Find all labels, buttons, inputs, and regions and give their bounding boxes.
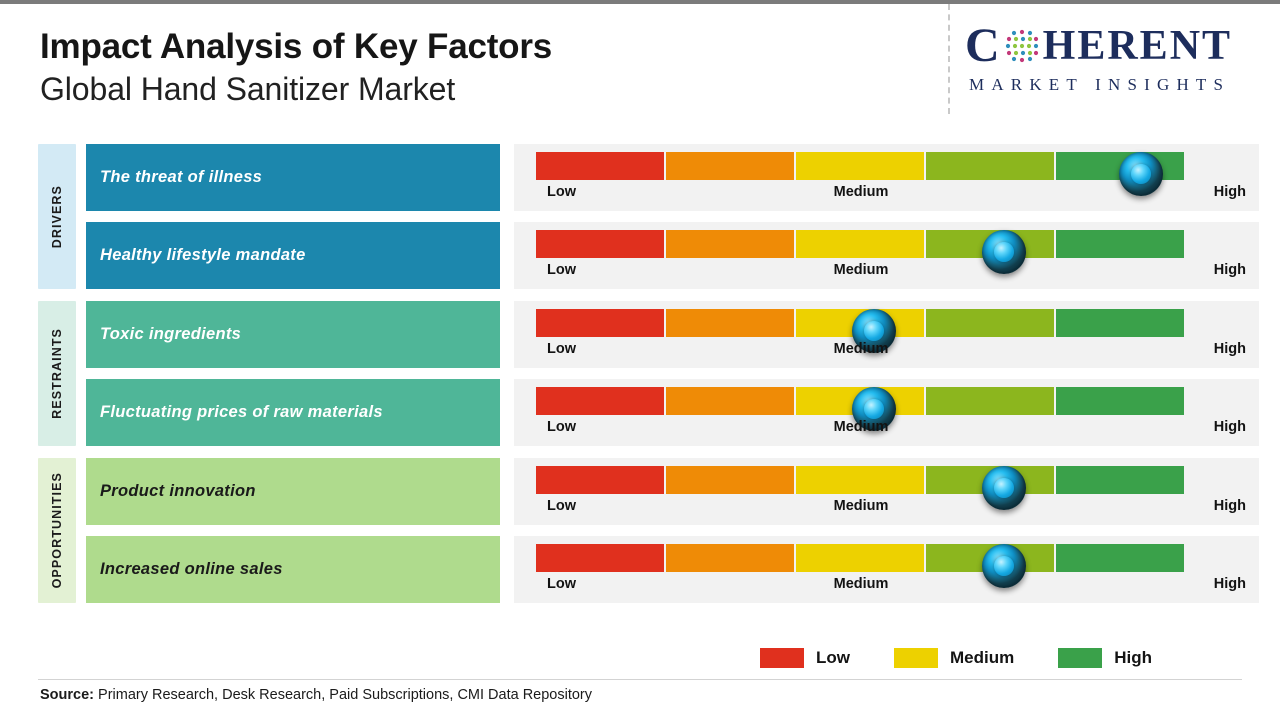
category-group-opportunities: OPPORTUNITIES Product innovation — [0, 458, 1280, 603]
factor-label: The threat of illness — [86, 144, 500, 211]
dotted-globe-icon — [1002, 26, 1042, 66]
gauge-segment-3 — [796, 466, 924, 494]
legend-item-high: High — [1058, 648, 1152, 668]
gauge-scale-labels: Low Medium High — [536, 184, 1216, 208]
header-divider — [948, 4, 950, 114]
table-row: Fluctuating prices of raw materials Low — [76, 379, 1280, 446]
factor-label: Product innovation — [86, 458, 500, 525]
table-row: Healthy lifestyle mandate Low Me — [76, 222, 1280, 289]
impact-gauge: Low Medium High — [514, 379, 1259, 446]
page-title: Impact Analysis of Key Factors — [40, 28, 552, 65]
impact-gauge: Low Medium High — [514, 301, 1259, 368]
factor-label: Increased online sales — [86, 536, 500, 603]
gauge-label-high: High — [1186, 262, 1246, 278]
gauge-segment-5 — [1056, 230, 1184, 258]
gauge-segment-2 — [666, 387, 794, 415]
brand-logo: C — [965, 22, 1265, 95]
gauge-segment-2 — [666, 466, 794, 494]
impact-gauge: Low Medium High — [514, 222, 1259, 289]
legend-label-high: High — [1114, 648, 1152, 668]
legend: Low Medium High — [760, 645, 1200, 671]
brand-wordmark: C — [965, 22, 1265, 70]
gauge-segment-4 — [926, 309, 1054, 337]
legend-item-medium: Medium — [894, 648, 1014, 668]
gauge-label-high: High — [1186, 498, 1246, 514]
brand-name-rest: HERENT — [1043, 25, 1232, 67]
category-label-opportunities: OPPORTUNITIES — [38, 458, 76, 603]
top-border — [0, 0, 1280, 4]
gauge-segment-4 — [926, 387, 1054, 415]
gauge-label-high: High — [1186, 576, 1246, 592]
gauge-label-medium: Medium — [536, 341, 1186, 357]
gauge-segment-5 — [1056, 466, 1184, 494]
brand-letter-c: C — [965, 22, 1002, 70]
gauge-segment-5 — [1056, 544, 1184, 572]
factor-label: Fluctuating prices of raw materials — [86, 379, 500, 446]
gauge-segment-3 — [796, 544, 924, 572]
gauge-label-high: High — [1186, 341, 1246, 357]
category-label-restraints: RESTRAINTS — [38, 301, 76, 446]
gauge-label-high: High — [1186, 419, 1246, 435]
table-row: Increased online sales Low Mediu — [76, 536, 1280, 603]
gauge-bar — [536, 544, 1186, 572]
gauge-label-medium: Medium — [536, 184, 1186, 200]
gauge-segment-2 — [666, 152, 794, 180]
category-label-drivers: DRIVERS — [38, 144, 76, 289]
gauge-segment-1 — [536, 152, 664, 180]
table-row: Product innovation Low Medium — [76, 458, 1280, 525]
gauge-label-high: High — [1186, 184, 1246, 200]
gauge-label-medium: Medium — [536, 419, 1186, 435]
impact-gauge: Low Medium High — [514, 144, 1259, 211]
gauge-segment-1 — [536, 387, 664, 415]
gauge-scale-labels: Low Medium High — [536, 498, 1216, 522]
gauge-segment-1 — [536, 230, 664, 258]
legend-label-low: Low — [816, 648, 850, 668]
impact-gauge: Low Medium High — [514, 536, 1259, 603]
gauge-segment-3 — [796, 230, 924, 258]
legend-label-medium: Medium — [950, 648, 1014, 668]
gauge-segment-3 — [796, 152, 924, 180]
table-row: Toxic ingredients Low Medium — [76, 301, 1280, 368]
gauge-bar — [536, 387, 1186, 415]
gauge-bar — [536, 309, 1186, 337]
category-group-drivers: DRIVERS The threat of illness — [0, 144, 1280, 289]
gauge-label-medium: Medium — [536, 576, 1186, 592]
gauge-segment-5 — [1056, 387, 1184, 415]
gauge-segment-1 — [536, 309, 664, 337]
legend-swatch-medium — [894, 648, 938, 668]
page-subtitle: Global Hand Sanitizer Market — [40, 71, 552, 108]
infographic-page: Impact Analysis of Key Factors Global Ha… — [0, 0, 1280, 720]
gauge-bar — [536, 152, 1186, 180]
gauge-scale-labels: Low Medium High — [536, 262, 1216, 286]
source-text: Primary Research, Desk Research, Paid Su… — [94, 687, 592, 703]
footer-divider — [38, 679, 1242, 680]
gauge-scale-labels: Low Medium High — [536, 576, 1216, 600]
gauge-segment-1 — [536, 466, 664, 494]
source-note: Source: Primary Research, Desk Research,… — [40, 687, 592, 703]
brand-tagline: MARKET INSIGHTS — [965, 75, 1265, 95]
legend-swatch-low — [760, 648, 804, 668]
header: Impact Analysis of Key Factors Global Ha… — [40, 28, 552, 108]
gauge-segment-4 — [926, 152, 1054, 180]
table-row: The threat of illness Low Medium — [76, 144, 1280, 211]
factor-label: Toxic ingredients — [86, 301, 500, 368]
gauge-segment-2 — [666, 309, 794, 337]
gauge-segment-1 — [536, 544, 664, 572]
legend-swatch-high — [1058, 648, 1102, 668]
factor-label: Healthy lifestyle mandate — [86, 222, 500, 289]
impact-gauge: Low Medium High — [514, 458, 1259, 525]
gauge-scale-labels: Low Medium High — [536, 341, 1216, 365]
gauge-bar — [536, 230, 1186, 258]
category-group-restraints: RESTRAINTS Toxic ingredients — [0, 301, 1280, 446]
legend-item-low: Low — [760, 648, 850, 668]
gauge-label-medium: Medium — [536, 262, 1186, 278]
gauge-scale-labels: Low Medium High — [536, 419, 1216, 443]
gauge-segment-2 — [666, 544, 794, 572]
gauge-segment-5 — [1056, 309, 1184, 337]
source-label: Source: — [40, 687, 94, 703]
gauge-label-medium: Medium — [536, 498, 1186, 514]
impact-matrix: DRIVERS The threat of illness — [0, 144, 1280, 603]
gauge-segment-2 — [666, 230, 794, 258]
gauge-bar — [536, 466, 1186, 494]
